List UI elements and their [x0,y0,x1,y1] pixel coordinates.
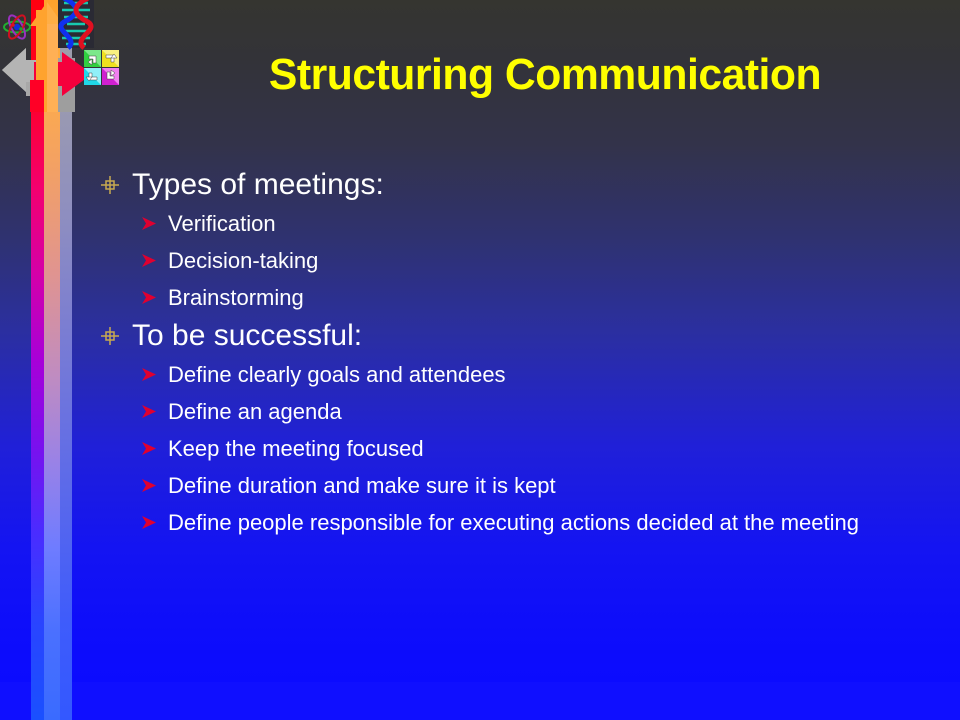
list-item-label: Define clearly goals and attendees [166,356,930,393]
slide-body-content: Types of meetings: Verification Decision… [100,165,930,541]
list-item: Brainstorming [140,279,930,316]
red-arrowhead-bullet [140,242,166,269]
four-color-squares-arrows-icon [84,50,119,85]
list-item: Define people responsible for executing … [140,504,930,541]
list-item-label: Keep the meeting focused [166,430,930,467]
list-item-label: Define an agenda [166,393,930,430]
clipart-cluster [0,0,130,110]
crosshair-square-bullet [100,316,130,346]
dna-helix-icon [58,0,94,48]
list-item: Define duration and make sure it is kept [140,467,930,504]
list-item: Define an agenda [140,393,930,430]
red-arrowhead-bullet [140,430,166,457]
red-arrowhead-bullet [140,279,166,306]
red-arrowhead-bullet [140,205,166,232]
presentation-slide: Structuring Communication Types of meeti… [0,0,960,720]
list-item-label: Verification [166,205,930,242]
red-arrowhead-bullet [140,504,166,531]
list-item: Types of meetings: [100,165,930,205]
atom-icon [4,13,30,41]
list-item: Verification [140,205,930,242]
slide-bottom-band [0,682,960,720]
list-item-label: To be successful: [130,316,930,356]
red-arrowhead-bullet [140,356,166,383]
list-item: Define clearly goals and attendees [140,356,930,393]
list-item: Keep the meeting focused [140,430,930,467]
list-item-label: Decision-taking [166,242,930,279]
red-arrowhead-bullet [140,393,166,420]
list-item-label: Define people responsible for executing … [166,504,930,541]
list-item-label: Brainstorming [166,279,930,316]
list-item-label: Define duration and make sure it is kept [166,467,930,504]
red-arrowhead-bullet [140,467,166,494]
crosshair-square-bullet [100,165,130,195]
list-item: To be successful: [100,316,930,356]
page-title: Structuring Communication [162,52,928,98]
list-item-label: Types of meetings: [130,165,930,205]
list-item: Decision-taking [140,242,930,279]
